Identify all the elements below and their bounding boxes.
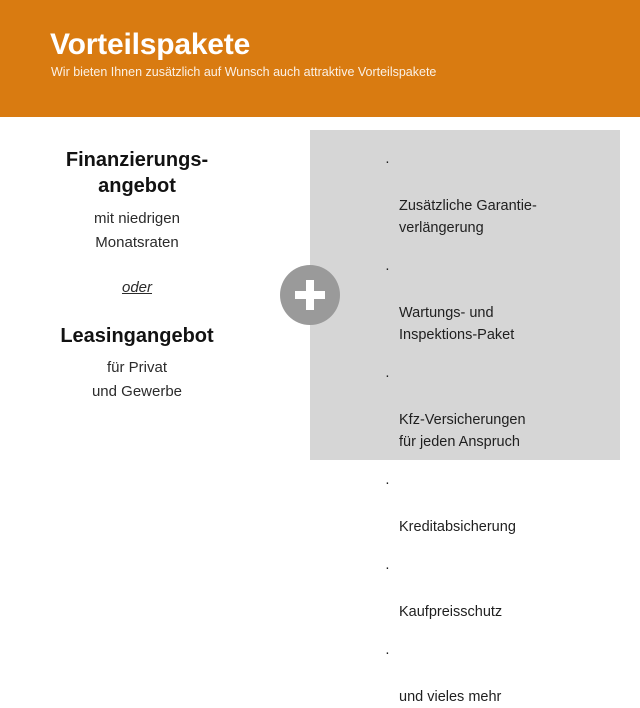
page-title: Vorteilspakete [50,28,250,62]
list-item-label: Kreditabsicherung [399,519,516,535]
list-item: · Zusätzliche Garantie- verlängerung [385,151,610,239]
bullet-icon: · [385,472,390,494]
offers-column: Finanzierungs- angebot mit niedrigen Mon… [22,147,252,404]
list-item: · Kaufpreisschutz [385,557,610,623]
financing-offer-detail: mit niedrigen Monatsraten [22,207,252,255]
list-item: · Kreditabsicherung [385,472,610,538]
list-item-label: Kaufpreisschutz [399,604,502,620]
list-item: · Kfz-Versicherungen für jeden Anspruch [385,365,610,453]
content-area: Finanzierungs- angebot mit niedrigen Mon… [0,117,640,480]
plus-vertical-bar [306,280,314,310]
financing-offer-heading: Finanzierungs- angebot [22,147,252,199]
benefits-panel: · Zusätzliche Garantie- verlängerung · W… [310,130,620,460]
offers-separator-oder: oder [22,277,252,299]
bullet-icon: · [385,557,390,579]
list-item-label: Wartungs- und Inspektions-Paket [399,305,514,343]
list-item-label: Zusätzliche Garantie- verlängerung [399,198,537,236]
list-item: · Wartungs- und Inspektions-Paket [385,258,610,346]
benefits-list: · Zusätzliche Garantie- verlängerung · W… [385,151,610,708]
leasing-offer-heading: Leasingangebot [22,323,252,349]
list-item-label: und vieles mehr [399,689,501,705]
list-item-label: Kfz-Versicherungen für jeden Anspruch [399,412,526,450]
list-item: · und vieles mehr [385,642,610,708]
leasing-offer-detail: für Privat und Gewerbe [22,356,252,404]
bullet-icon: · [385,642,390,664]
plus-icon [280,265,340,325]
bullet-icon: · [385,365,390,387]
bullet-icon: · [385,151,390,173]
header-band: Vorteilspakete Wir bieten Ihnen zusätzli… [0,0,640,117]
page-subtitle: Wir bieten Ihnen zusätzlich auf Wunsch a… [51,64,436,80]
bullet-icon: · [385,258,390,280]
